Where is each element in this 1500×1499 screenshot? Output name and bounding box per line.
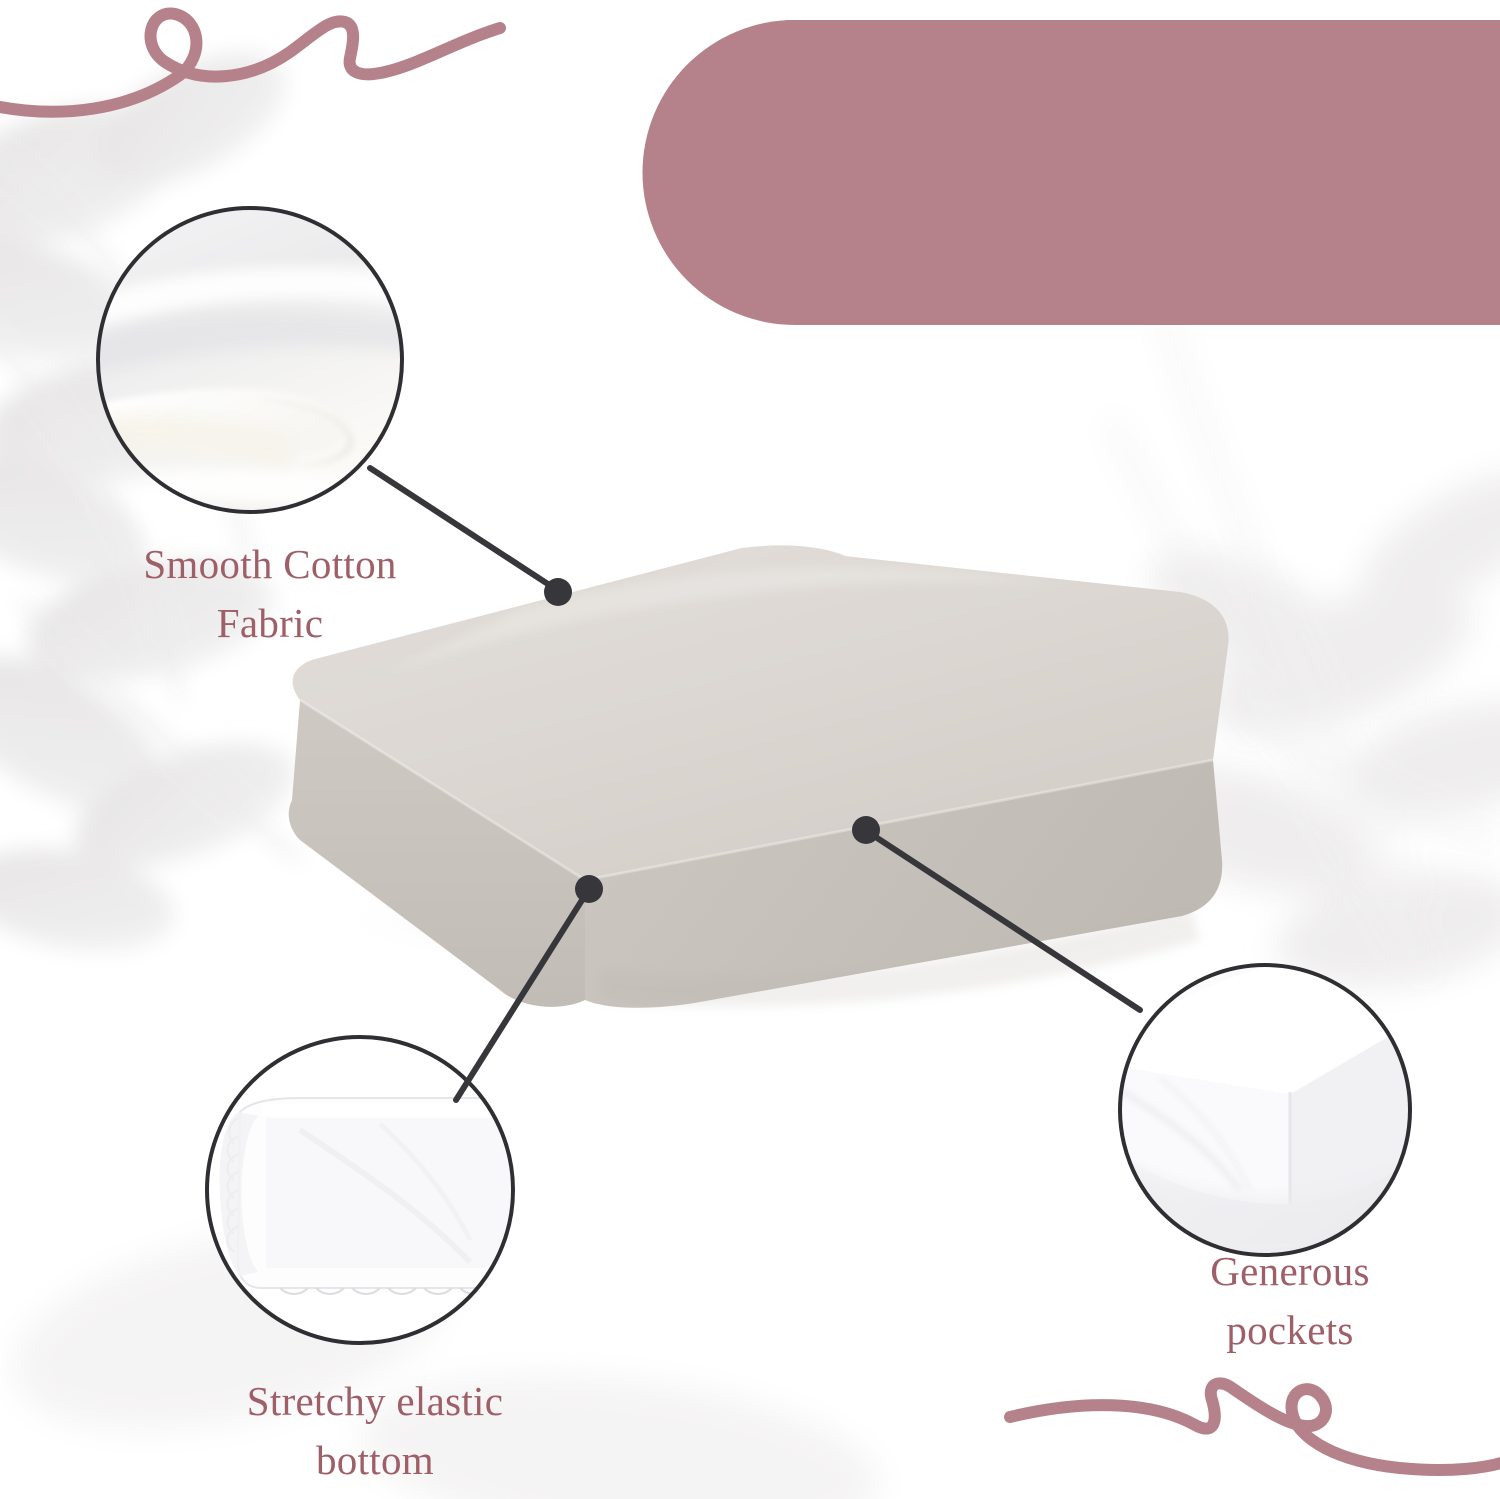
squiggle-bottom-right-icon xyxy=(1010,1383,1500,1470)
squiggle-top-left-icon xyxy=(0,14,500,112)
decorative-squiggles xyxy=(0,0,1500,1499)
infographic-canvas: Product Features xyxy=(0,0,1500,1499)
